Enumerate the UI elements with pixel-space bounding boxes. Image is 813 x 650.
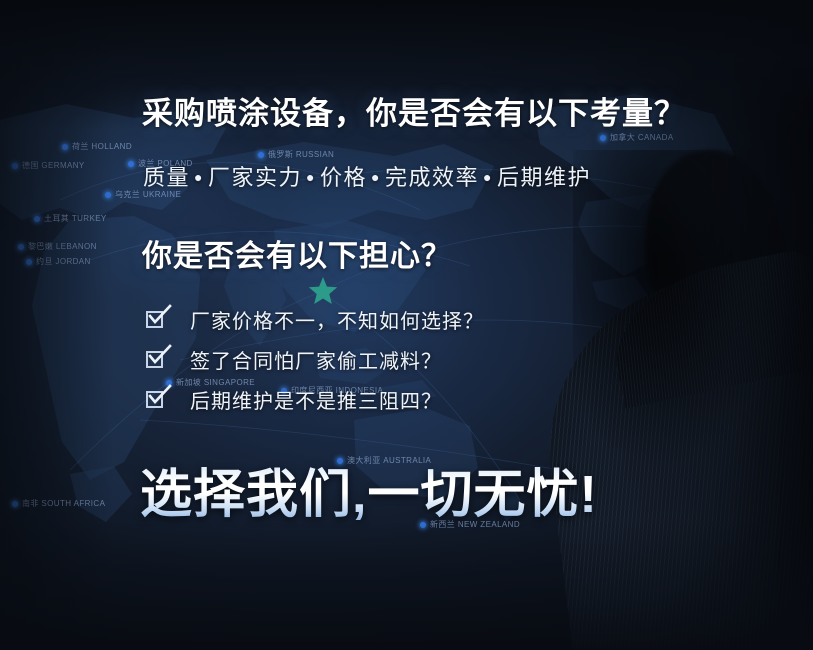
bullet-separator-icon: ●: [367, 169, 385, 185]
slogan-text: 选择我们,一切无忧!: [140, 452, 598, 527]
checkbox-checked-icon: [146, 389, 168, 411]
consideration-item: 完成效率: [385, 165, 479, 190]
checklist-item: 后期维护是不是推三阻四？: [146, 385, 484, 414]
consideration-item: 后期维护: [497, 165, 591, 190]
checklist-item: 签了合同怕厂家偷工减料？: [146, 345, 484, 374]
secondary-headline: 你是否会有以下担心？: [142, 231, 452, 275]
checkbox-checked-icon: [146, 309, 168, 331]
promo-banner: 荷兰 HOLLAND德国 GERMANY波兰 POLAND乌克兰 UKRAINE…: [0, 0, 813, 650]
consideration-item: 价格: [320, 165, 367, 190]
checklist-item: 厂家价格不一，不知如何选择？: [146, 305, 484, 334]
bullet-separator-icon: ●: [190, 169, 208, 185]
consideration-item: 质量: [143, 165, 190, 190]
banner-content: 采购喷涂设备，你是否会有以下考量？ 质量●厂家实力●价格●完成效率●后期维护 你…: [0, 0, 813, 650]
checkbox-checked-icon: [146, 349, 168, 371]
primary-headline: 采购喷涂设备，你是否会有以下考量？: [142, 88, 686, 133]
checklist-item-label: 厂家价格不一，不知如何选择？: [190, 305, 484, 334]
checklist-item-label: 签了合同怕厂家偷工减料？: [190, 345, 442, 374]
checklist-item-label: 后期维护是不是推三阻四？: [190, 385, 442, 414]
concern-checklist: 厂家价格不一，不知如何选择？签了合同怕厂家偷工减料？后期维护是不是推三阻四？: [146, 305, 484, 414]
consideration-item: 厂家实力: [208, 165, 302, 190]
consideration-list: 质量●厂家实力●价格●完成效率●后期维护: [143, 160, 591, 192]
bullet-separator-icon: ●: [479, 169, 497, 185]
bullet-separator-icon: ●: [302, 169, 320, 185]
